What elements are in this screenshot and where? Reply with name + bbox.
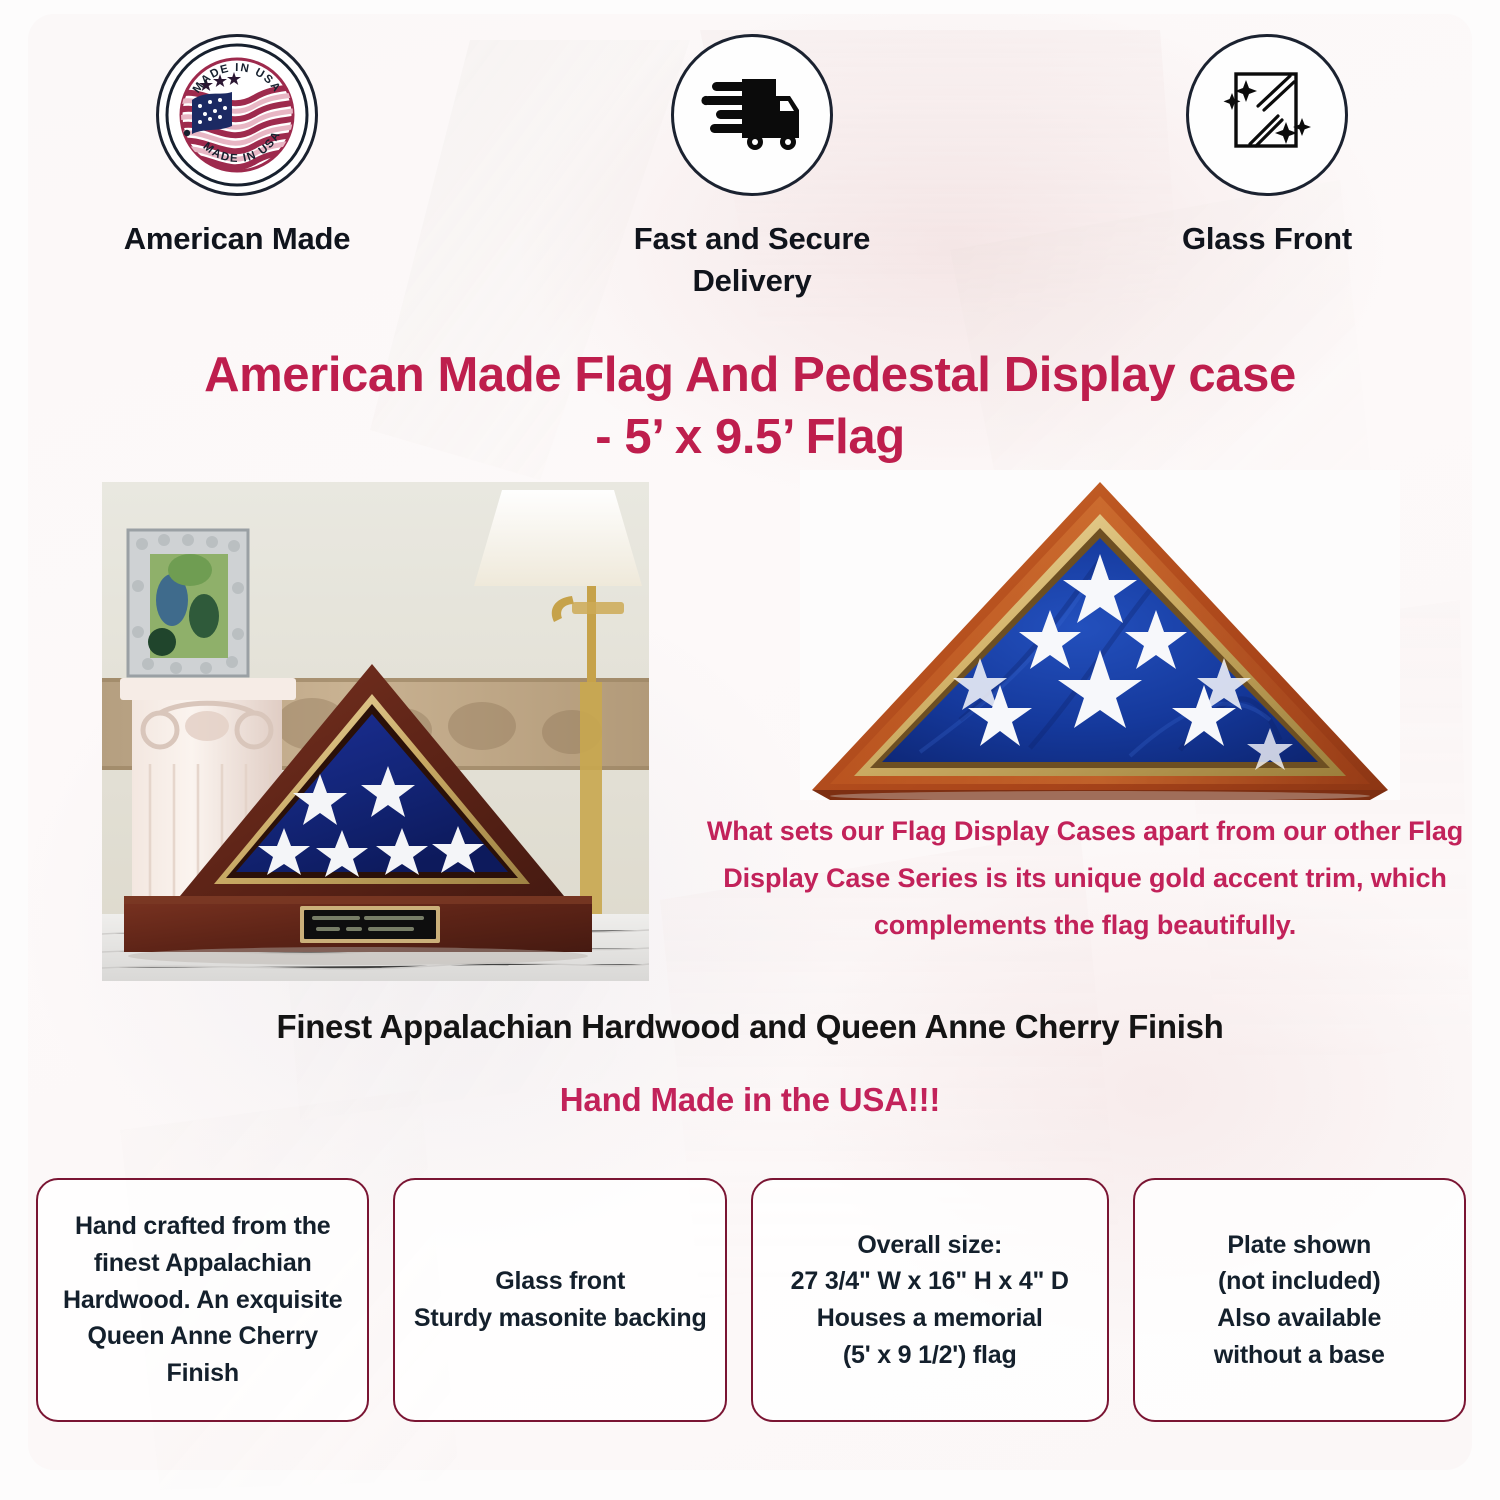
feature-hardwood-text: Hand crafted from the finest Appalachian… bbox=[52, 1208, 353, 1392]
feature-plate-text: Plate shown(not included)Also availablew… bbox=[1214, 1227, 1385, 1374]
caption-hardwood: Finest Appalachian Hardwood and Queen An… bbox=[0, 1008, 1500, 1046]
glass-pane-sparkle-icon bbox=[1212, 60, 1322, 170]
delivery-badge-ring bbox=[671, 34, 833, 196]
delivery-truck-icon bbox=[700, 76, 804, 154]
made-in-usa-seal-icon: MADE IN USA MADE IN USA bbox=[162, 40, 312, 190]
product-description: What sets our Flag Display Cases apart f… bbox=[680, 808, 1490, 949]
flag-case-product-photo bbox=[800, 470, 1400, 800]
trust-badge-row: MADE IN USA MADE IN USA American Made bbox=[0, 34, 1500, 302]
badge-label-glass-front: Glass Front bbox=[1182, 218, 1352, 260]
badge-label-fast-delivery: Fast and Secure Delivery bbox=[577, 218, 927, 302]
flag-case-product-render bbox=[800, 470, 1400, 800]
feature-glass-front-text: Glass frontSturdy masonite backing bbox=[414, 1263, 707, 1337]
page-title-line2: - 5’ x 9.5’ Flag bbox=[595, 410, 905, 464]
flag-case-on-table-photo bbox=[102, 482, 649, 981]
badge-american-made: MADE IN USA MADE IN USA American Made bbox=[62, 34, 412, 302]
feature-hardwood: Hand crafted from the finest Appalachian… bbox=[36, 1178, 369, 1422]
feature-plate: Plate shown(not included)Also availablew… bbox=[1133, 1178, 1466, 1422]
feature-card-row: Hand crafted from the finest Appalachian… bbox=[36, 1178, 1466, 1422]
flag-case-room-scene bbox=[102, 482, 649, 981]
feature-dimensions-text: Overall size:27 3/4" W x 16" H x 4" DHou… bbox=[791, 1227, 1069, 1374]
page-title-line1: American Made Flag And Pedestal Display … bbox=[204, 348, 1296, 402]
caption-handmade-usa: Hand Made in the USA!!! bbox=[0, 1081, 1500, 1119]
glass-badge-ring bbox=[1186, 34, 1348, 196]
badge-fast-delivery: Fast and Secure Delivery bbox=[577, 34, 927, 302]
made-in-usa-seal-ring: MADE IN USA MADE IN USA bbox=[156, 34, 318, 196]
infographic-page: MADE IN USA MADE IN USA American Made bbox=[0, 0, 1500, 1500]
badge-label-american-made: American Made bbox=[124, 218, 351, 260]
page-title: American Made Flag And Pedestal Display … bbox=[90, 345, 1410, 468]
feature-dimensions: Overall size:27 3/4" W x 16" H x 4" DHou… bbox=[751, 1178, 1109, 1422]
feature-glass-front: Glass frontSturdy masonite backing bbox=[393, 1178, 726, 1422]
badge-glass-front: Glass Front bbox=[1092, 34, 1442, 302]
